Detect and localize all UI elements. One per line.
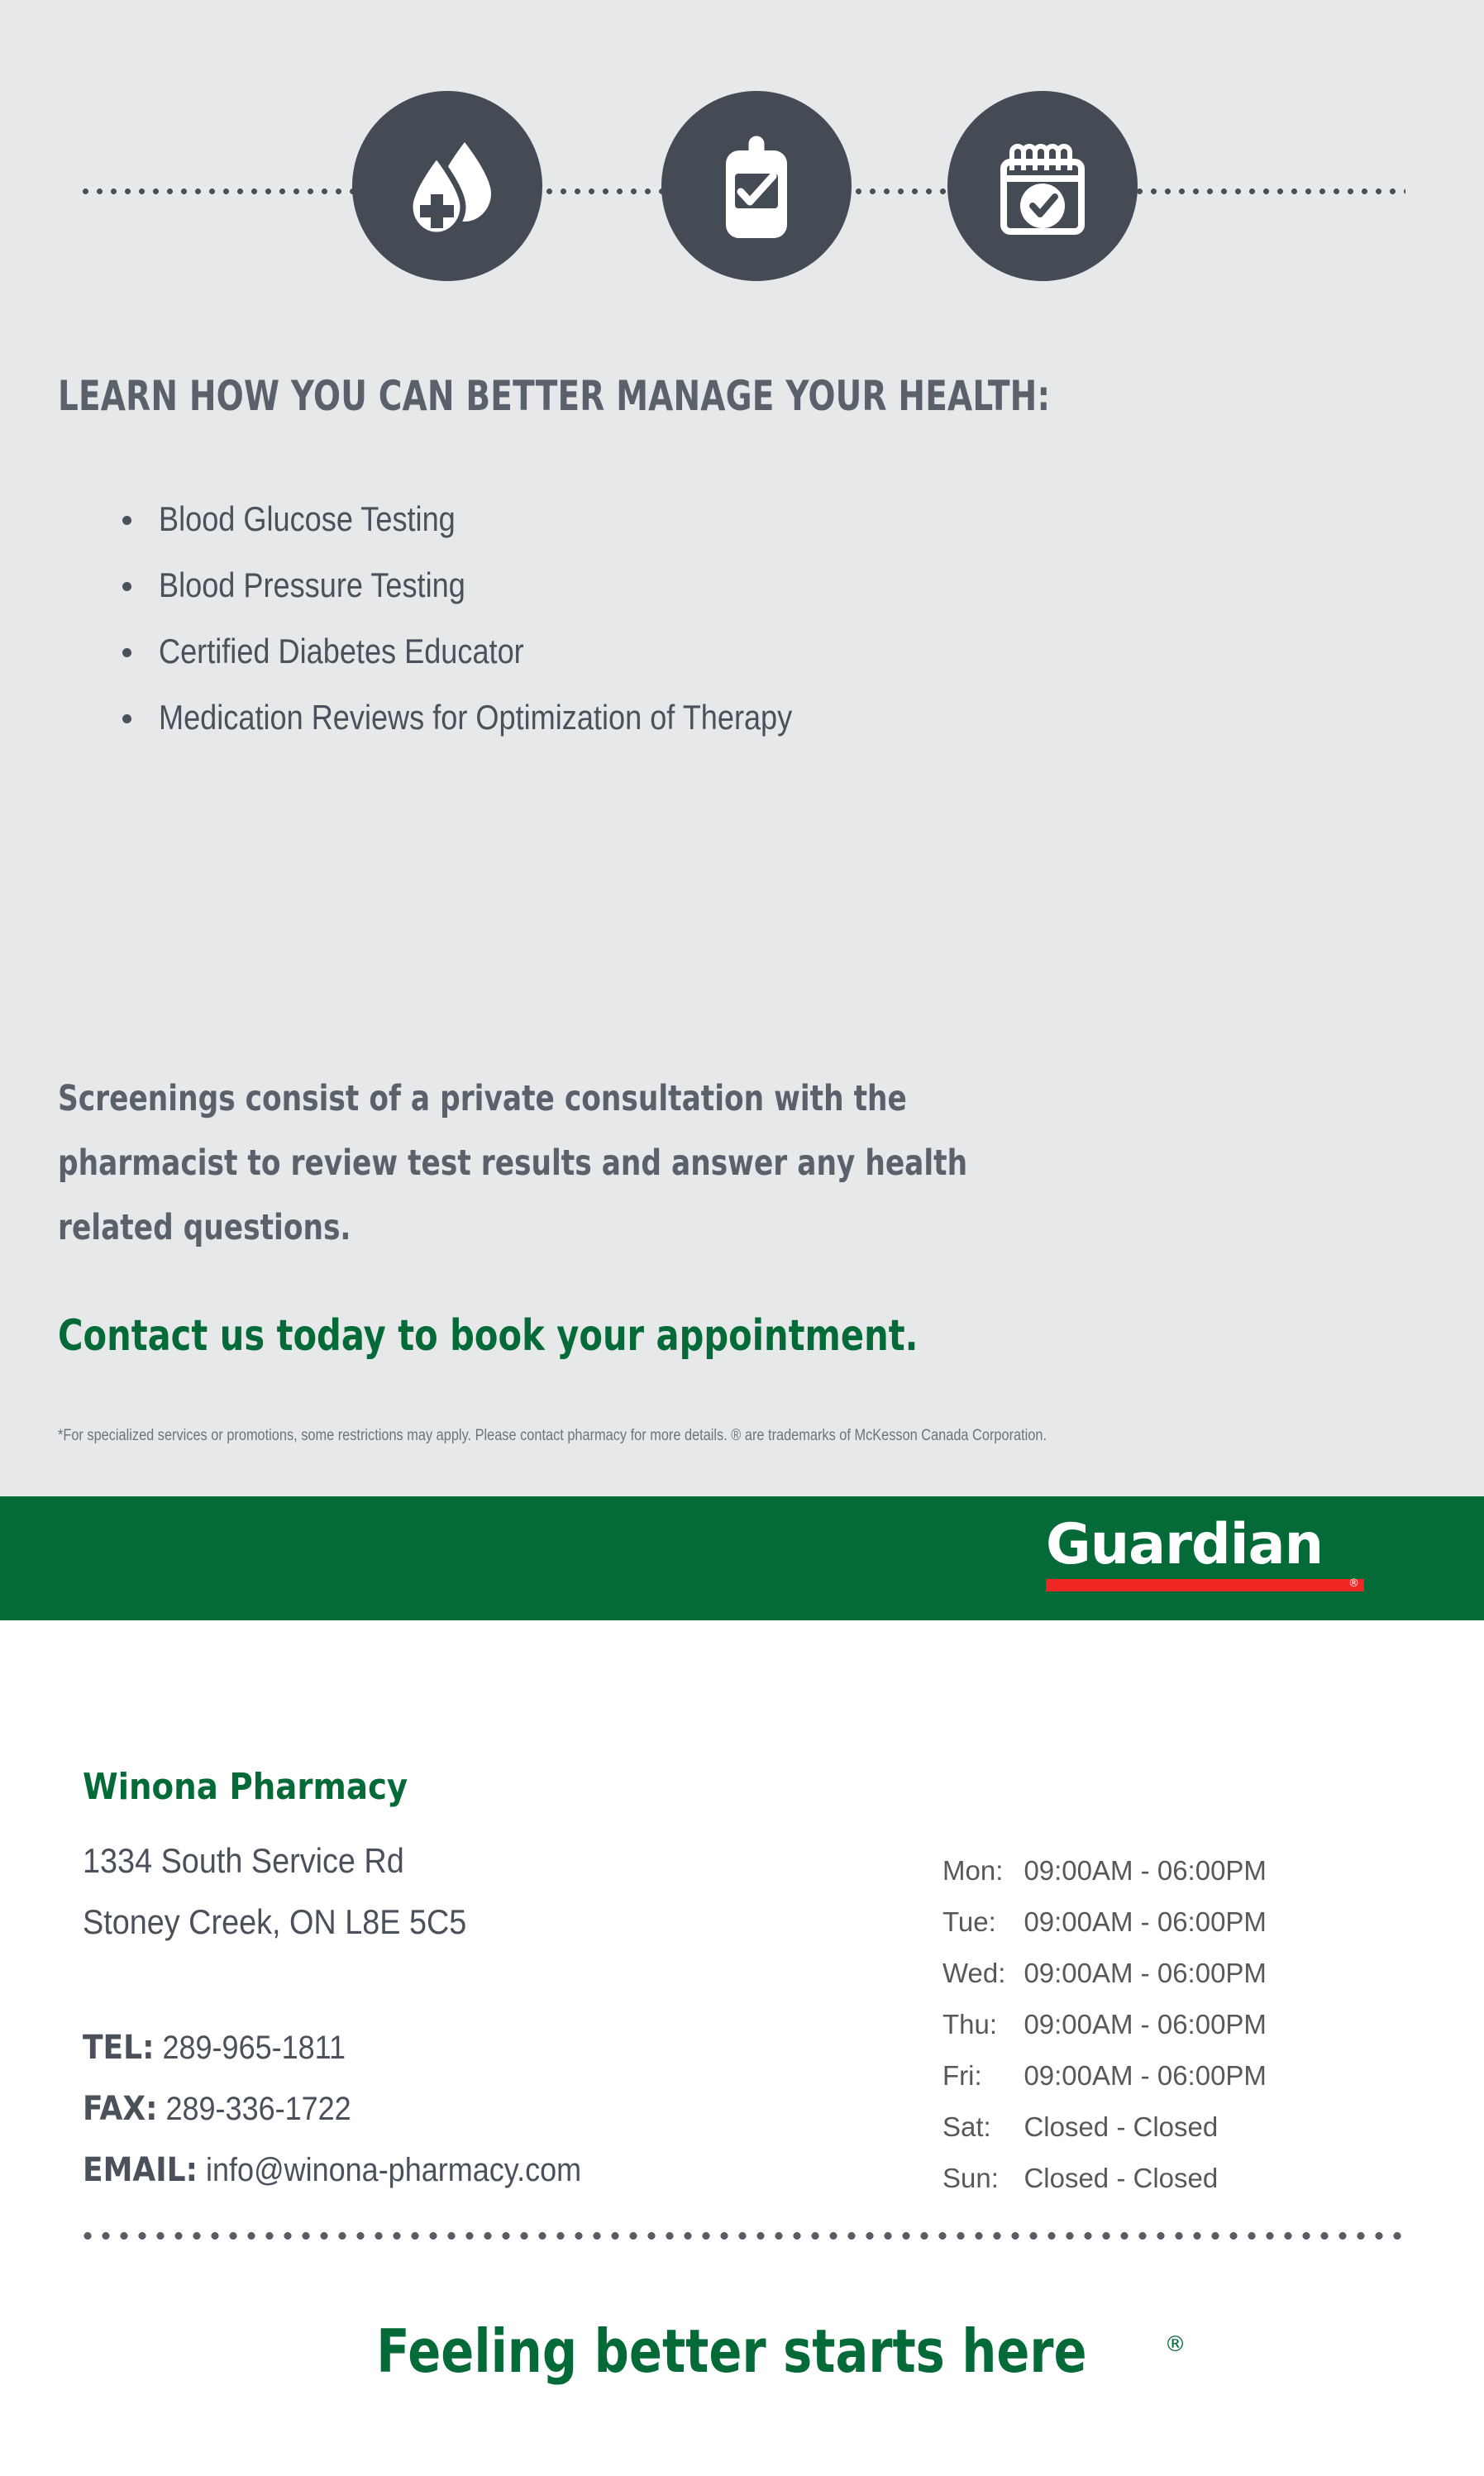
glucose-meter-check-icon — [661, 91, 852, 281]
list-item: Blood Glucose Testing — [116, 486, 1356, 552]
fax-value: 289-336-1722 — [165, 2091, 351, 2127]
bullet-icon — [122, 516, 131, 525]
address-line-1: 1334 South Service Rd — [83, 1830, 466, 1892]
icon-strip — [0, 91, 1484, 289]
bullet-icon — [122, 582, 131, 591]
table-row: Tue: 09:00AM - 06:00PM — [942, 1896, 1267, 1948]
screening-description: Screenings consist of a private consulta… — [58, 1066, 1463, 1260]
list-item: Blood Pressure Testing — [116, 552, 1356, 618]
table-row: Fri: 09:00AM - 06:00PM — [942, 2050, 1267, 2101]
call-to-action-text: Contact us today to book your appointmen… — [58, 1309, 918, 1363]
telephone-row: TEL: 289-965-1811 — [83, 2017, 581, 2078]
list-item-label: Medication Reviews for Optimization of T… — [159, 685, 792, 751]
fax-row: FAX: 289-336-1722 — [83, 2078, 581, 2140]
brand-tagline: Feeling better starts here® — [0, 2307, 1484, 2389]
store-address: 1334 South Service Rd Stoney Creek, ON L… — [83, 1830, 466, 1953]
list-item-label: Blood Glucose Testing — [159, 486, 456, 552]
store-name: Winona Pharmacy — [83, 1766, 408, 1809]
table-row: Sat: Closed - Closed — [942, 2101, 1267, 2153]
hours-time: 09:00AM - 06:00PM — [1024, 1948, 1267, 1999]
hours-day: Mon: — [942, 1845, 1024, 1896]
hours-day: Wed: — [942, 1948, 1024, 1999]
hours-time: 09:00AM - 06:00PM — [1024, 1999, 1267, 2050]
guardian-logo: Guardian ® — [1046, 1515, 1364, 1591]
blurb-line: pharmacist to review test results and an… — [58, 1131, 1182, 1195]
disclaimer-text: *For specialized services or promotions,… — [58, 1425, 1267, 1447]
hours-time: 09:00AM - 06:00PM — [1024, 2050, 1267, 2101]
store-hours-table: Mon: 09:00AM - 06:00PM Tue: 09:00AM - 06… — [942, 1845, 1267, 2204]
blurb-line: Screenings consist of a private consulta… — [58, 1066, 1182, 1131]
registered-mark-icon: ® — [1348, 1577, 1359, 1590]
telephone-value[interactable]: 289-965-1811 — [162, 2030, 346, 2066]
guardian-underline-bar: ® — [1046, 1579, 1364, 1591]
store-contact-info: TEL: 289-965-1811 FAX: 289-336-1722 EMAI… — [83, 2017, 581, 2201]
address-line-2: Stoney Creek, ON L8E 5C5 — [83, 1892, 466, 1953]
hours-day: Tue: — [942, 1896, 1024, 1948]
hours-time: Closed - Closed — [1024, 2101, 1267, 2153]
bullet-icon — [122, 648, 131, 657]
dotted-divider-bottom — [79, 2232, 1405, 2240]
table-row: Mon: 09:00AM - 06:00PM — [942, 1845, 1267, 1896]
table-row: Wed: 09:00AM - 06:00PM — [942, 1948, 1267, 1999]
table-row: Thu: 09:00AM - 06:00PM — [942, 1999, 1267, 2050]
fax-label: FAX: — [83, 2090, 157, 2128]
list-item-label: Blood Pressure Testing — [159, 552, 465, 618]
email-row: EMAIL: info@winona-pharmacy.com — [83, 2140, 581, 2201]
telephone-label: TEL: — [83, 2029, 154, 2067]
hours-day: Thu: — [942, 1999, 1024, 2050]
table-row: Sun: Closed - Closed — [942, 2153, 1267, 2204]
hours-day: Fri: — [942, 2050, 1024, 2101]
blurb-line: related questions. — [58, 1195, 1182, 1260]
hours-day: Sun: — [942, 2153, 1024, 2204]
bullet-icon — [122, 714, 131, 723]
hours-time: 09:00AM - 06:00PM — [1024, 1896, 1267, 1948]
email-label: EMAIL: — [83, 2151, 198, 2189]
registered-mark-icon: ® — [1164, 2332, 1186, 2357]
poster-page: FPO FPO FPO FPO FPO FPO — [0, 0, 1484, 2476]
brand-bar: Guardian ® — [0, 1496, 1484, 1620]
list-item: Certified Diabetes Educator — [116, 618, 1356, 685]
guardian-wordmark: Guardian — [1046, 1515, 1358, 1576]
email-value[interactable]: info@winona-pharmacy.com — [206, 2152, 581, 2188]
hours-day: Sat: — [942, 2101, 1024, 2153]
list-item: Medication Reviews for Optimization of T… — [116, 685, 1356, 751]
services-list: Blood Glucose Testing Blood Pressure Tes… — [116, 486, 1356, 751]
tagline-text: Feeling better starts here — [376, 2313, 1086, 2389]
hours-time: Closed - Closed — [1024, 2153, 1267, 2204]
list-item-label: Certified Diabetes Educator — [159, 618, 524, 685]
calendar-check-icon — [947, 91, 1138, 281]
page-title: LEARN HOW YOU CAN BETTER MANAGE YOUR HEA… — [58, 372, 1129, 420]
blood-drop-plus-icon — [352, 91, 542, 281]
hours-time: 09:00AM - 06:00PM — [1024, 1845, 1267, 1896]
